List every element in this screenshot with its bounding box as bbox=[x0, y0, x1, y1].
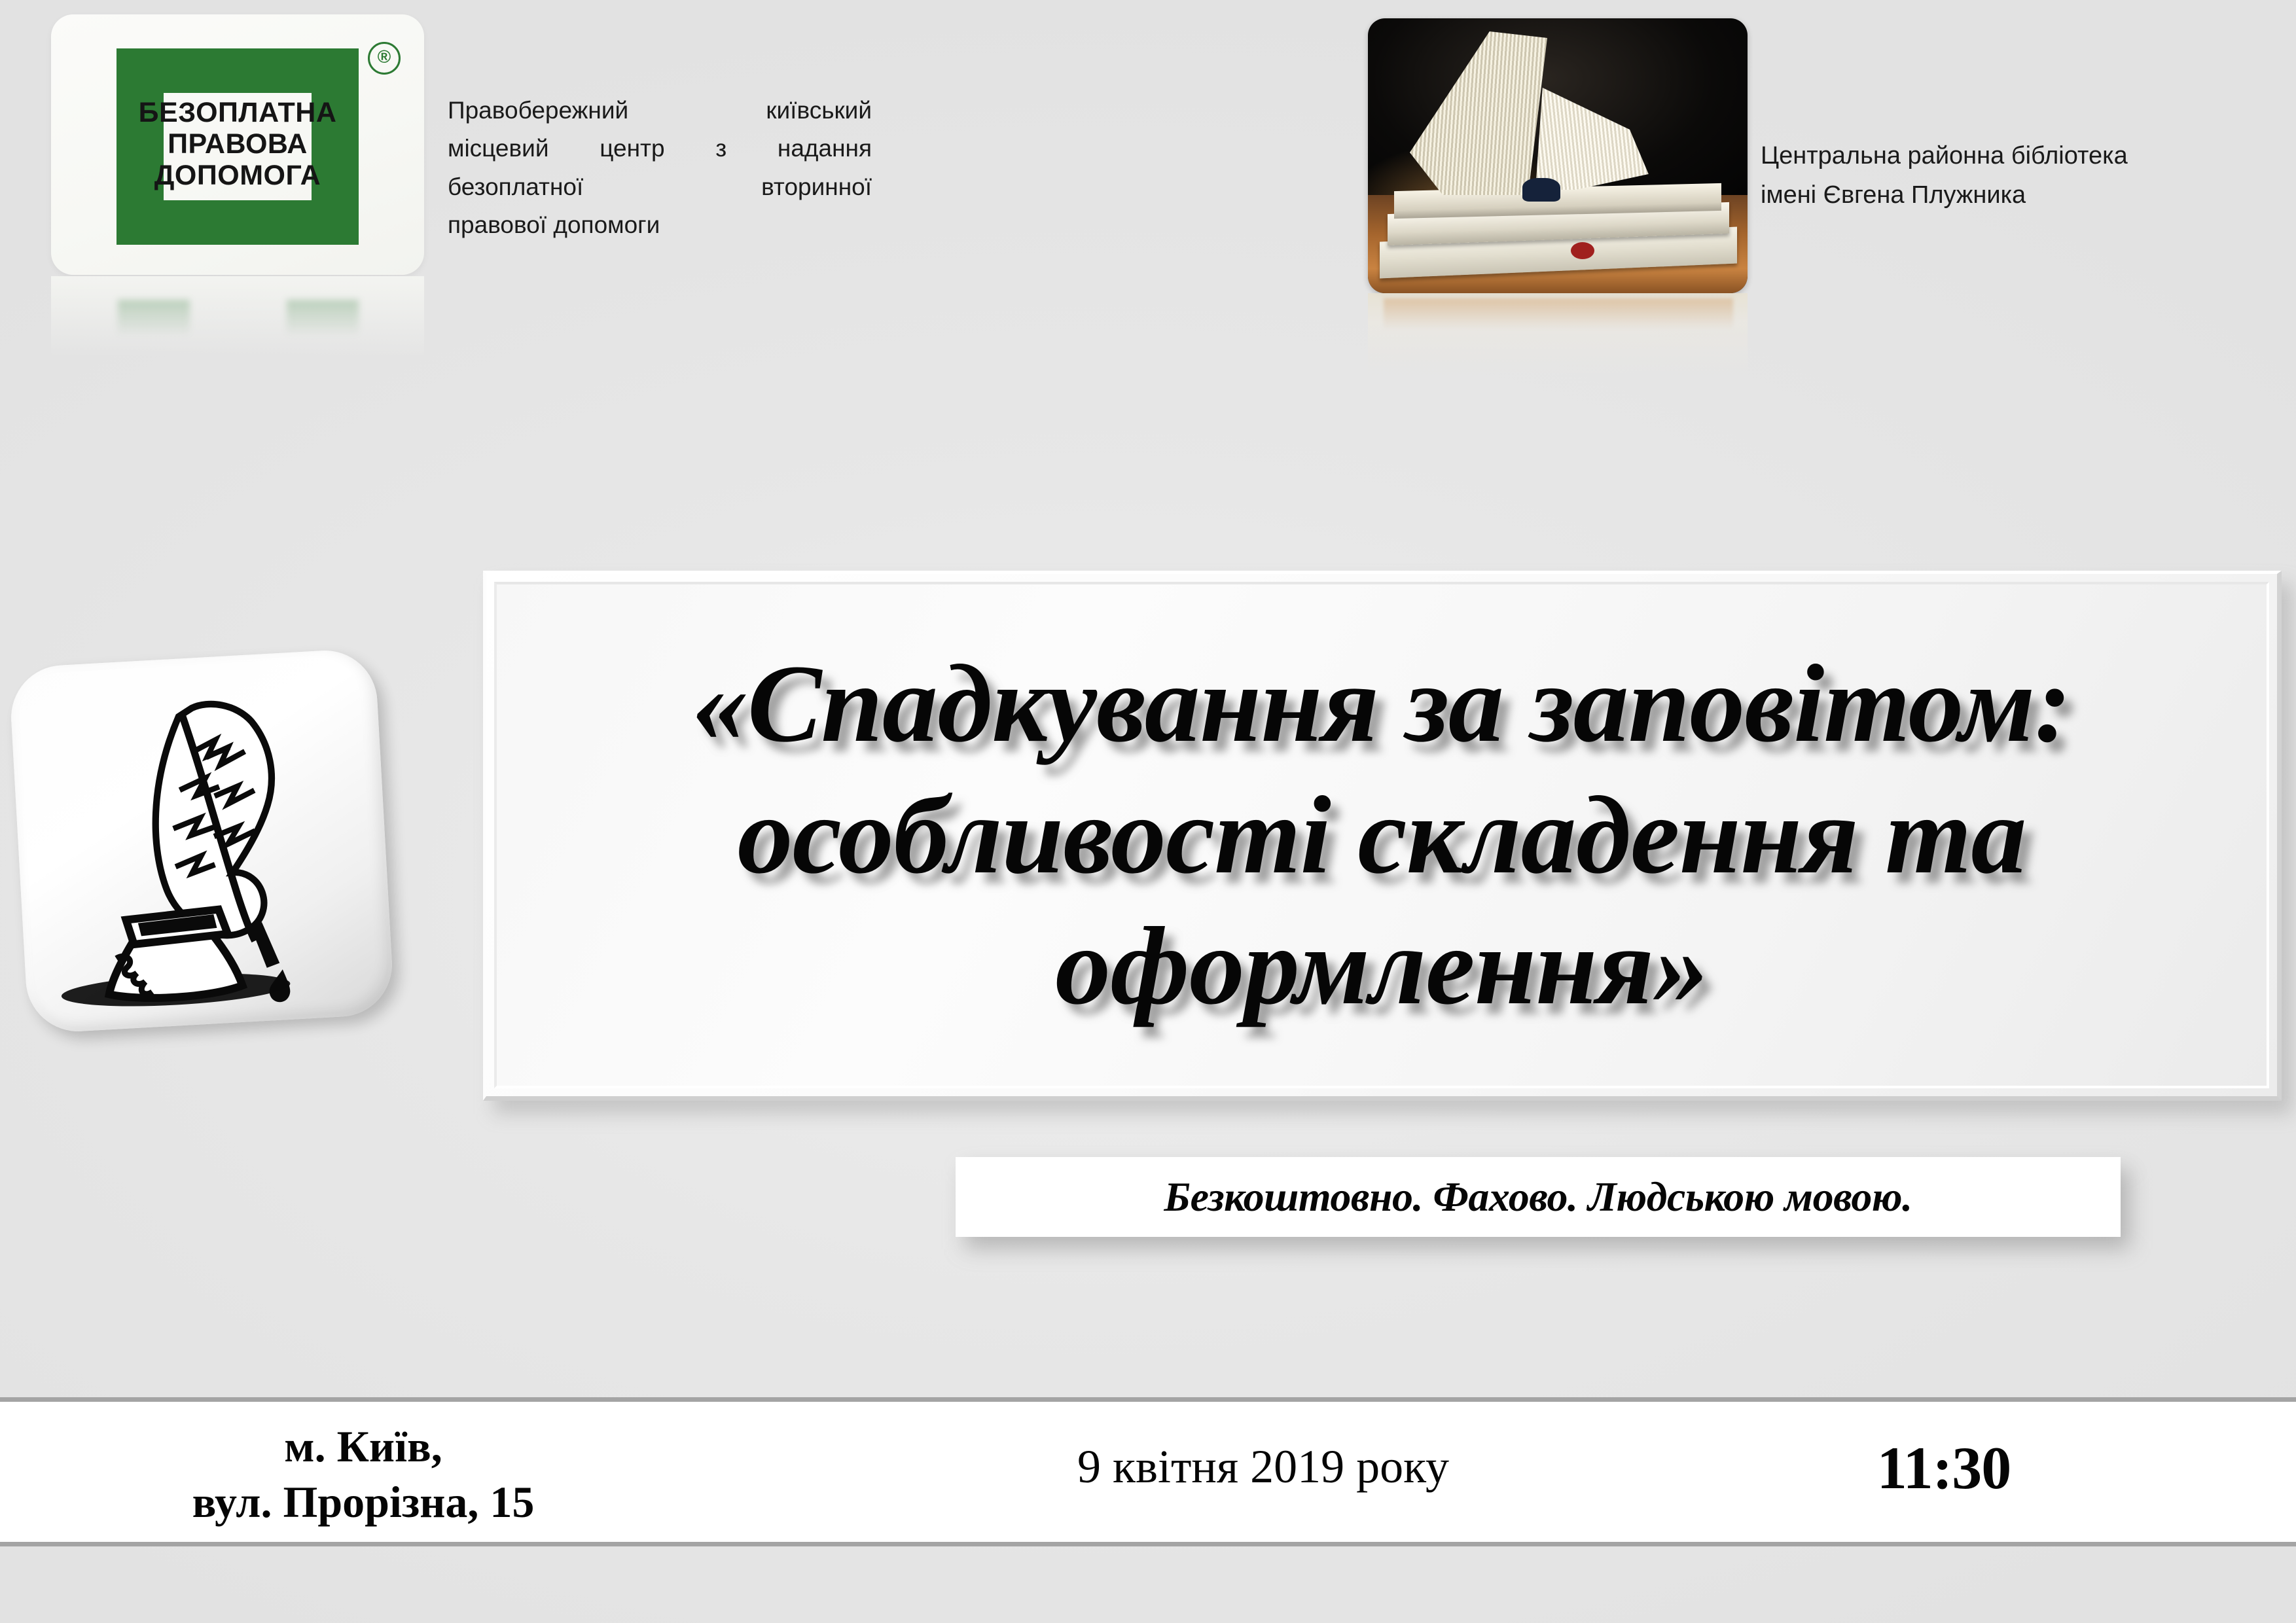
logo-word-line-2: ПРАВОВА bbox=[51, 128, 424, 160]
library-name-line-1: Центральна районна бібліотека bbox=[1761, 136, 2278, 175]
description-word: місцевий bbox=[448, 130, 549, 168]
event-location: м. Київ, вул. Прорізна, 15 bbox=[98, 1419, 628, 1530]
location-street: вул. Прорізна, 15 bbox=[98, 1474, 628, 1530]
logo-right-bracket-top bbox=[237, 48, 359, 93]
books-photo-reflection bbox=[1368, 293, 1748, 398]
description-word: надання bbox=[778, 130, 872, 168]
description-word: з bbox=[715, 130, 726, 168]
poster-root: БЕЗОПЛАТНА ПРАВОВА ДОПОМОГА ® Правобереж… bbox=[0, 0, 2296, 1623]
footer-content: м. Київ, вул. Прорізна, 15 9 квітня 2019… bbox=[0, 1402, 2296, 1542]
book-spine bbox=[1522, 178, 1560, 202]
location-city: м. Київ, bbox=[98, 1419, 628, 1474]
library-name-line-2: імені Євгена Плужника bbox=[1761, 175, 2278, 215]
description-word: вторинної bbox=[761, 168, 872, 206]
library-name: Центральна районна бібліотека імені Євге… bbox=[1761, 136, 2278, 215]
library-photo-block bbox=[1368, 18, 1748, 293]
description-line-1: Правобережний київський bbox=[448, 92, 872, 130]
tagline-banner: Безкоштовно. Фахово. Людською мовою. bbox=[956, 1157, 2121, 1237]
title-box-frame: «Спадкування за заповітом: особливості с… bbox=[483, 571, 2282, 1101]
book-bookmark bbox=[1571, 242, 1594, 259]
reflection-band bbox=[1384, 298, 1733, 330]
registered-trademark-icon: ® bbox=[368, 42, 401, 75]
page-title: «Спадкування за заповітом: особливості с… bbox=[497, 638, 2267, 1032]
description-line-2: місцевий центр з надання bbox=[448, 130, 872, 168]
book-pages-right-fan bbox=[1535, 59, 1653, 190]
logo-reflection bbox=[51, 276, 424, 374]
title-box-inner: «Спадкування за заповітом: особливості с… bbox=[494, 582, 2269, 1088]
tagline-text: Безкоштовно. Фахово. Людською мовою. bbox=[1164, 1173, 1912, 1221]
logo-wordmark: БЕЗОПЛАТНА ПРАВОВА ДОПОМОГА bbox=[51, 97, 424, 191]
logo-left-bracket-top bbox=[117, 48, 238, 93]
book-pages-left-fan bbox=[1410, 31, 1547, 195]
event-time: 11:30 bbox=[1741, 1433, 2147, 1503]
logo-word-line-1: БЕЗОПЛАТНА bbox=[51, 97, 424, 128]
open-books-photo bbox=[1368, 18, 1748, 293]
description-word: безоплатної bbox=[448, 168, 583, 206]
event-title-box: «Спадкування за заповітом: особливості с… bbox=[483, 571, 2282, 1101]
logo-tile: БЕЗОПЛАТНА ПРАВОВА ДОПОМОГА ® bbox=[51, 14, 424, 275]
logo-word-line-3: ДОПОМОГА bbox=[51, 160, 424, 191]
footer-bar: м. Київ, вул. Прорізна, 15 9 квітня 2019… bbox=[0, 1397, 2296, 1546]
header: БЕЗОПЛАТНА ПРАВОВА ДОПОМОГА ® Правобереж… bbox=[0, 0, 2296, 406]
free-legal-aid-logo: БЕЗОПЛАТНА ПРАВОВА ДОПОМОГА ® bbox=[51, 14, 424, 275]
description-line-3: безоплатної вторинної bbox=[448, 168, 872, 206]
description-word: київський bbox=[766, 92, 872, 130]
description-line-4: правової допомоги bbox=[448, 206, 872, 244]
description-word: Правобережний bbox=[448, 92, 628, 130]
logo-right-bracket-bottom bbox=[237, 200, 359, 245]
event-date: 9 квітня 2019 року bbox=[969, 1440, 1558, 1494]
legal-center-description: Правобережний київський місцевий центр з… bbox=[448, 92, 872, 245]
tagline-banner-body: Безкоштовно. Фахово. Людською мовою. bbox=[956, 1157, 2121, 1237]
logo-left-bracket-bottom bbox=[117, 200, 238, 245]
description-word: центр bbox=[600, 130, 664, 168]
quill-pen-and-inkwell-icon bbox=[9, 648, 395, 1034]
